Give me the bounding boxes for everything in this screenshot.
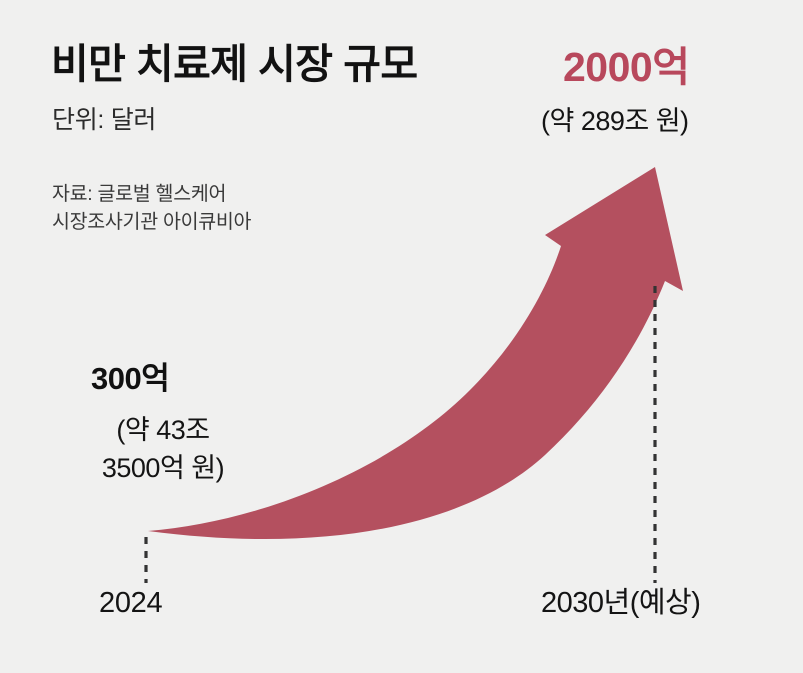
chart-unit-label: 단위: 달러 <box>52 108 156 133</box>
axis-label-end: 2030년(예상) <box>541 589 700 618</box>
end-value-krw-label: (약 289조 원) <box>541 108 689 135</box>
growth-arrow-graphic <box>0 0 803 673</box>
end-value-label: 2000억 <box>563 47 689 88</box>
start-value-krw-label: (약 43조 3500억 원) <box>73 411 253 488</box>
page-title: 비만 치료제 시장 규모 <box>51 44 417 85</box>
infographic-root: 비만 치료제 시장 규모 단위: 달러 자료: 글로벌 헬스케어 시장조사기관 … <box>0 0 803 673</box>
chart-source-label: 자료: 글로벌 헬스케어 시장조사기관 아이큐비아 <box>52 180 251 237</box>
start-value-label: 300억 <box>91 363 169 394</box>
axis-label-start: 2024 <box>99 589 162 618</box>
